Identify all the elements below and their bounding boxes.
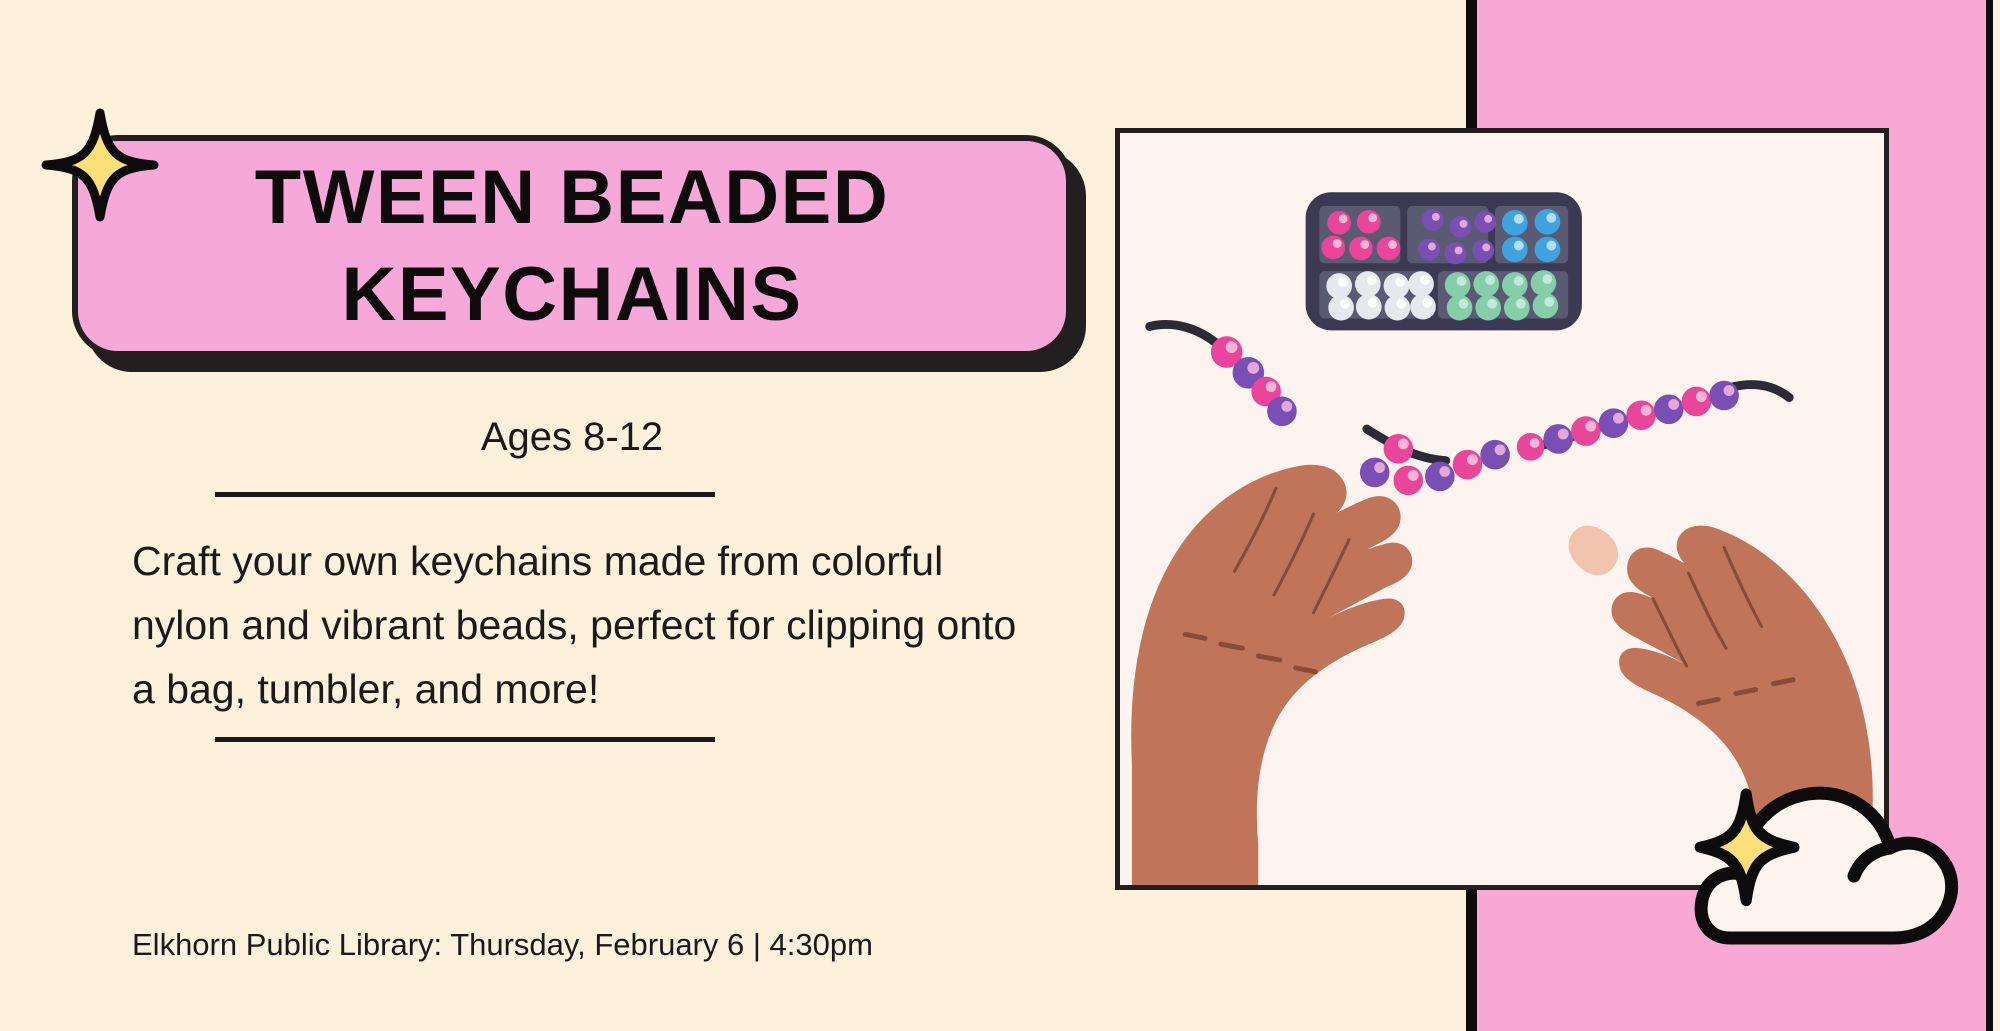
event-list: Elkhorn Public Library: Thursday, Februa… xyxy=(132,787,1132,1031)
divider-bottom xyxy=(215,737,715,742)
cloud-icon xyxy=(1694,748,1964,963)
sparkle-icon xyxy=(40,105,160,225)
title-banner-group: TWEEN BEADED KEYCHAINS xyxy=(72,135,1082,367)
description-text: Craft your own keychains made from color… xyxy=(132,530,1032,722)
title-banner: TWEEN BEADED KEYCHAINS xyxy=(72,135,1072,357)
bead-tray xyxy=(1306,192,1582,330)
ages-label: Ages 8-12 xyxy=(72,415,1072,460)
page-title-line-1: TWEEN BEADED xyxy=(255,149,889,246)
divider-top xyxy=(215,492,715,497)
flyer-canvas: TWEEN BEADED KEYCHAINS Ages 8-12 Craft y… xyxy=(0,0,2000,1031)
right-edge-strip xyxy=(1986,0,2000,1031)
event-line: Elkhorn Public Library: Thursday, Februa… xyxy=(132,913,1132,976)
page-title-line-2: KEYCHAINS xyxy=(341,246,802,343)
corner-cloud-decor xyxy=(1694,748,1964,963)
